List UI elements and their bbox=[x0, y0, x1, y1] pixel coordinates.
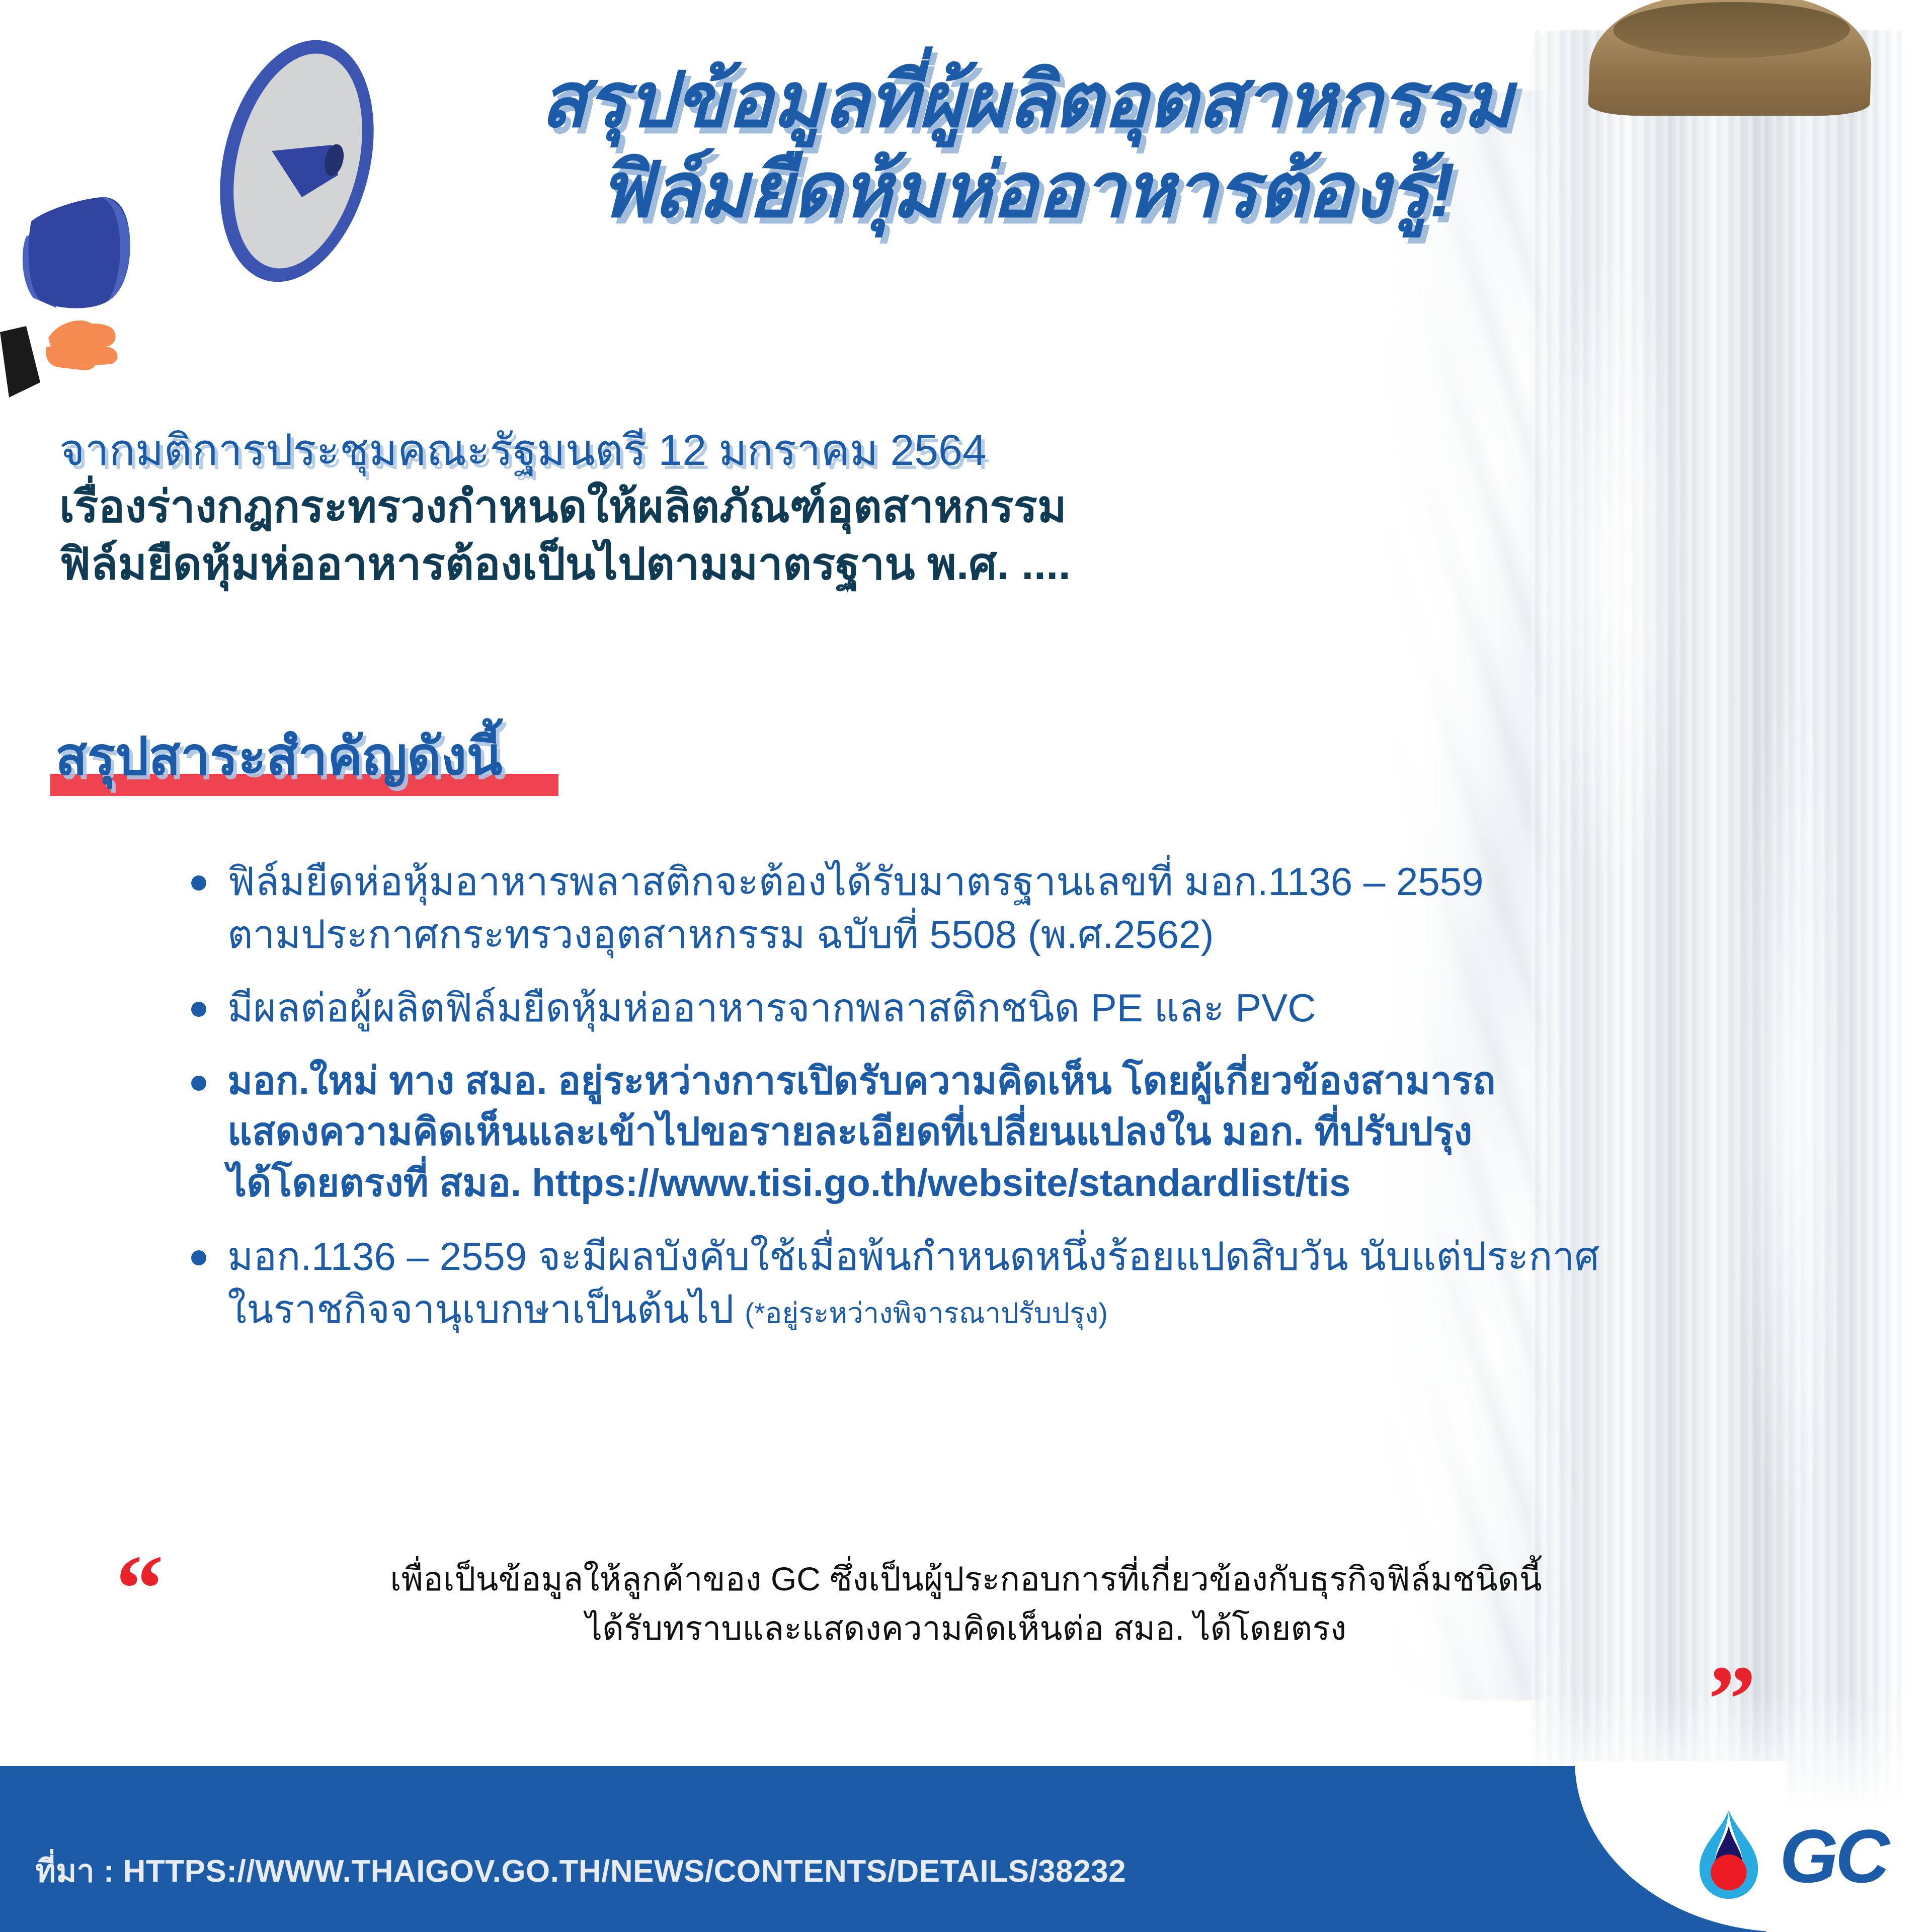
bullet-line: มอก.1136 – 2559 จะมีผลบังคับใช้เมื่อพ้นก… bbox=[227, 1230, 1599, 1283]
list-item: มอก.1136 – 2559 จะมีผลบังคับใช้เมื่อพ้นก… bbox=[191, 1230, 1791, 1335]
bullet-text: มอก.ใหม่ ทาง สมอ. อยู่ระหว่างการเปิดรับค… bbox=[227, 1056, 1496, 1209]
bullet-line: ฟิล์มยืดห่อหุ้มอาหารพลาสติกจะต้องได้รับม… bbox=[227, 855, 1484, 908]
bullet-text: มีผลต่อผู้ผลิตฟิล์มยืดหุ้มห่ออาหารจากพลา… bbox=[227, 982, 1316, 1034]
megaphone-icon bbox=[0, 0, 413, 413]
intro-paragraph: จากมติการประชุมคณะรัฐมนตรี 12 มกราคม 256… bbox=[59, 423, 1418, 593]
bullet-line: ในราชกิจจานุเบกษาเป็นต้นไป (*อยู่ระหว่าง… bbox=[227, 1283, 1599, 1336]
intro-line-1: จากมติการประชุมคณะรัฐมนตรี 12 มกราคม 256… bbox=[59, 423, 1418, 478]
list-item: มอก.ใหม่ ทาง สมอ. อยู่ระหว่างการเปิดรับค… bbox=[191, 1056, 1791, 1209]
list-item: มีผลต่อผู้ผลิตฟิล์มยืดหุ้มห่ออาหารจากพลา… bbox=[191, 982, 1791, 1034]
bullet-dot-icon bbox=[191, 1002, 206, 1017]
gc-logo-text: GC bbox=[1780, 1818, 1887, 1894]
intro-line-2: เรื่องร่างกฎกระทรวงกำหนดให้ผลิตภัณฑ์อุตส… bbox=[59, 478, 1418, 535]
quote-line-2: ได้รับทราบและแสดงความคิดเห็นต่อ สมอ. ได้… bbox=[216, 1604, 1716, 1653]
quote-close-icon: ” bbox=[1708, 1665, 1756, 1734]
bullet-dot-icon bbox=[191, 1250, 206, 1265]
bullet-dot-icon bbox=[191, 1076, 206, 1091]
title-line-1: สรุปข้อมูลที่ผู้ผลิตอุตสาหกรรม bbox=[382, 55, 1670, 145]
title-line-2: ฟิล์มยืดหุ้มห่ออาหารต้องรู้! bbox=[382, 145, 1670, 235]
quote-open-icon: “ bbox=[116, 1555, 164, 1624]
bullet-line: ตามประกาศกระทรวงอุตสาหกรรม ฉบับที่ 5508 … bbox=[227, 908, 1484, 961]
quote-line-1: เพื่อเป็นข้อมูลให้ลูกค้าของ GC ซึ่งเป็นผ… bbox=[216, 1555, 1716, 1604]
footer-source-text[interactable]: ที่มา : HTTPS://WWW.THAIGOV.GO.TH/NEWS/C… bbox=[35, 1846, 1126, 1896]
pull-quote: “ ” เพื่อเป็นข้อมูลให้ลูกค้าของ GC ซึ่งเ… bbox=[116, 1555, 1836, 1653]
bullet-dot-icon bbox=[191, 875, 206, 891]
bullet-line-with-url[interactable]: ได้โดยตรงที่ สมอ. https://www.tisi.go.th… bbox=[227, 1158, 1496, 1209]
bullet-line: แสดงความคิดเห็นและเข้าไปขอรายละเอียดที่เ… bbox=[227, 1106, 1496, 1158]
list-item: ฟิล์มยืดห่อหุ้มอาหารพลาสติกจะต้องได้รับม… bbox=[191, 855, 1791, 960]
section-heading: สรุปสาระสำคัญดังนี้ bbox=[55, 714, 507, 797]
bullet-line: มอก.ใหม่ ทาง สมอ. อยู่ระหว่างการเปิดรับค… bbox=[227, 1056, 1496, 1107]
bullet-footnote: (*อยู่ระหว่างพิจารณาปรับปรุง) bbox=[745, 1297, 1108, 1329]
key-points-list: ฟิล์มยืดห่อหุ้มอาหารพลาสติกจะต้องได้รับม… bbox=[191, 855, 1791, 1356]
bullet-text: มอก.1136 – 2559 จะมีผลบังคับใช้เมื่อพ้นก… bbox=[227, 1230, 1599, 1335]
infographic-canvas: สรุปข้อมูลที่ผู้ผลิตอุตสาหกรรม ฟิล์มยืดห… bbox=[0, 0, 1932, 1932]
page-title: สรุปข้อมูลที่ผู้ผลิตอุตสาหกรรม ฟิล์มยืดห… bbox=[382, 55, 1670, 236]
intro-line-3: ฟิล์มยืดหุ้มห่ออาหารต้องเป็นไปตามมาตรฐาน… bbox=[59, 535, 1418, 593]
bullet-line: มีผลต่อผู้ผลิตฟิล์มยืดหุ้มห่ออาหารจากพลา… bbox=[227, 982, 1316, 1034]
quote-text: เพื่อเป็นข้อมูลให้ลูกค้าของ GC ซึ่งเป็นผ… bbox=[216, 1555, 1716, 1653]
bullet-line-main: ในราชกิจจานุเบกษาเป็นต้นไป bbox=[227, 1287, 734, 1331]
gc-logo: GC bbox=[1691, 1807, 1887, 1904]
gc-flame-droplet-logo-icon bbox=[1691, 1807, 1766, 1904]
bullet-text: ฟิล์มยืดห่อหุ้มอาหารพลาสติกจะต้องได้รับม… bbox=[227, 855, 1484, 960]
section-heading-text: สรุปสาระสำคัญดังนี้ bbox=[55, 714, 507, 797]
